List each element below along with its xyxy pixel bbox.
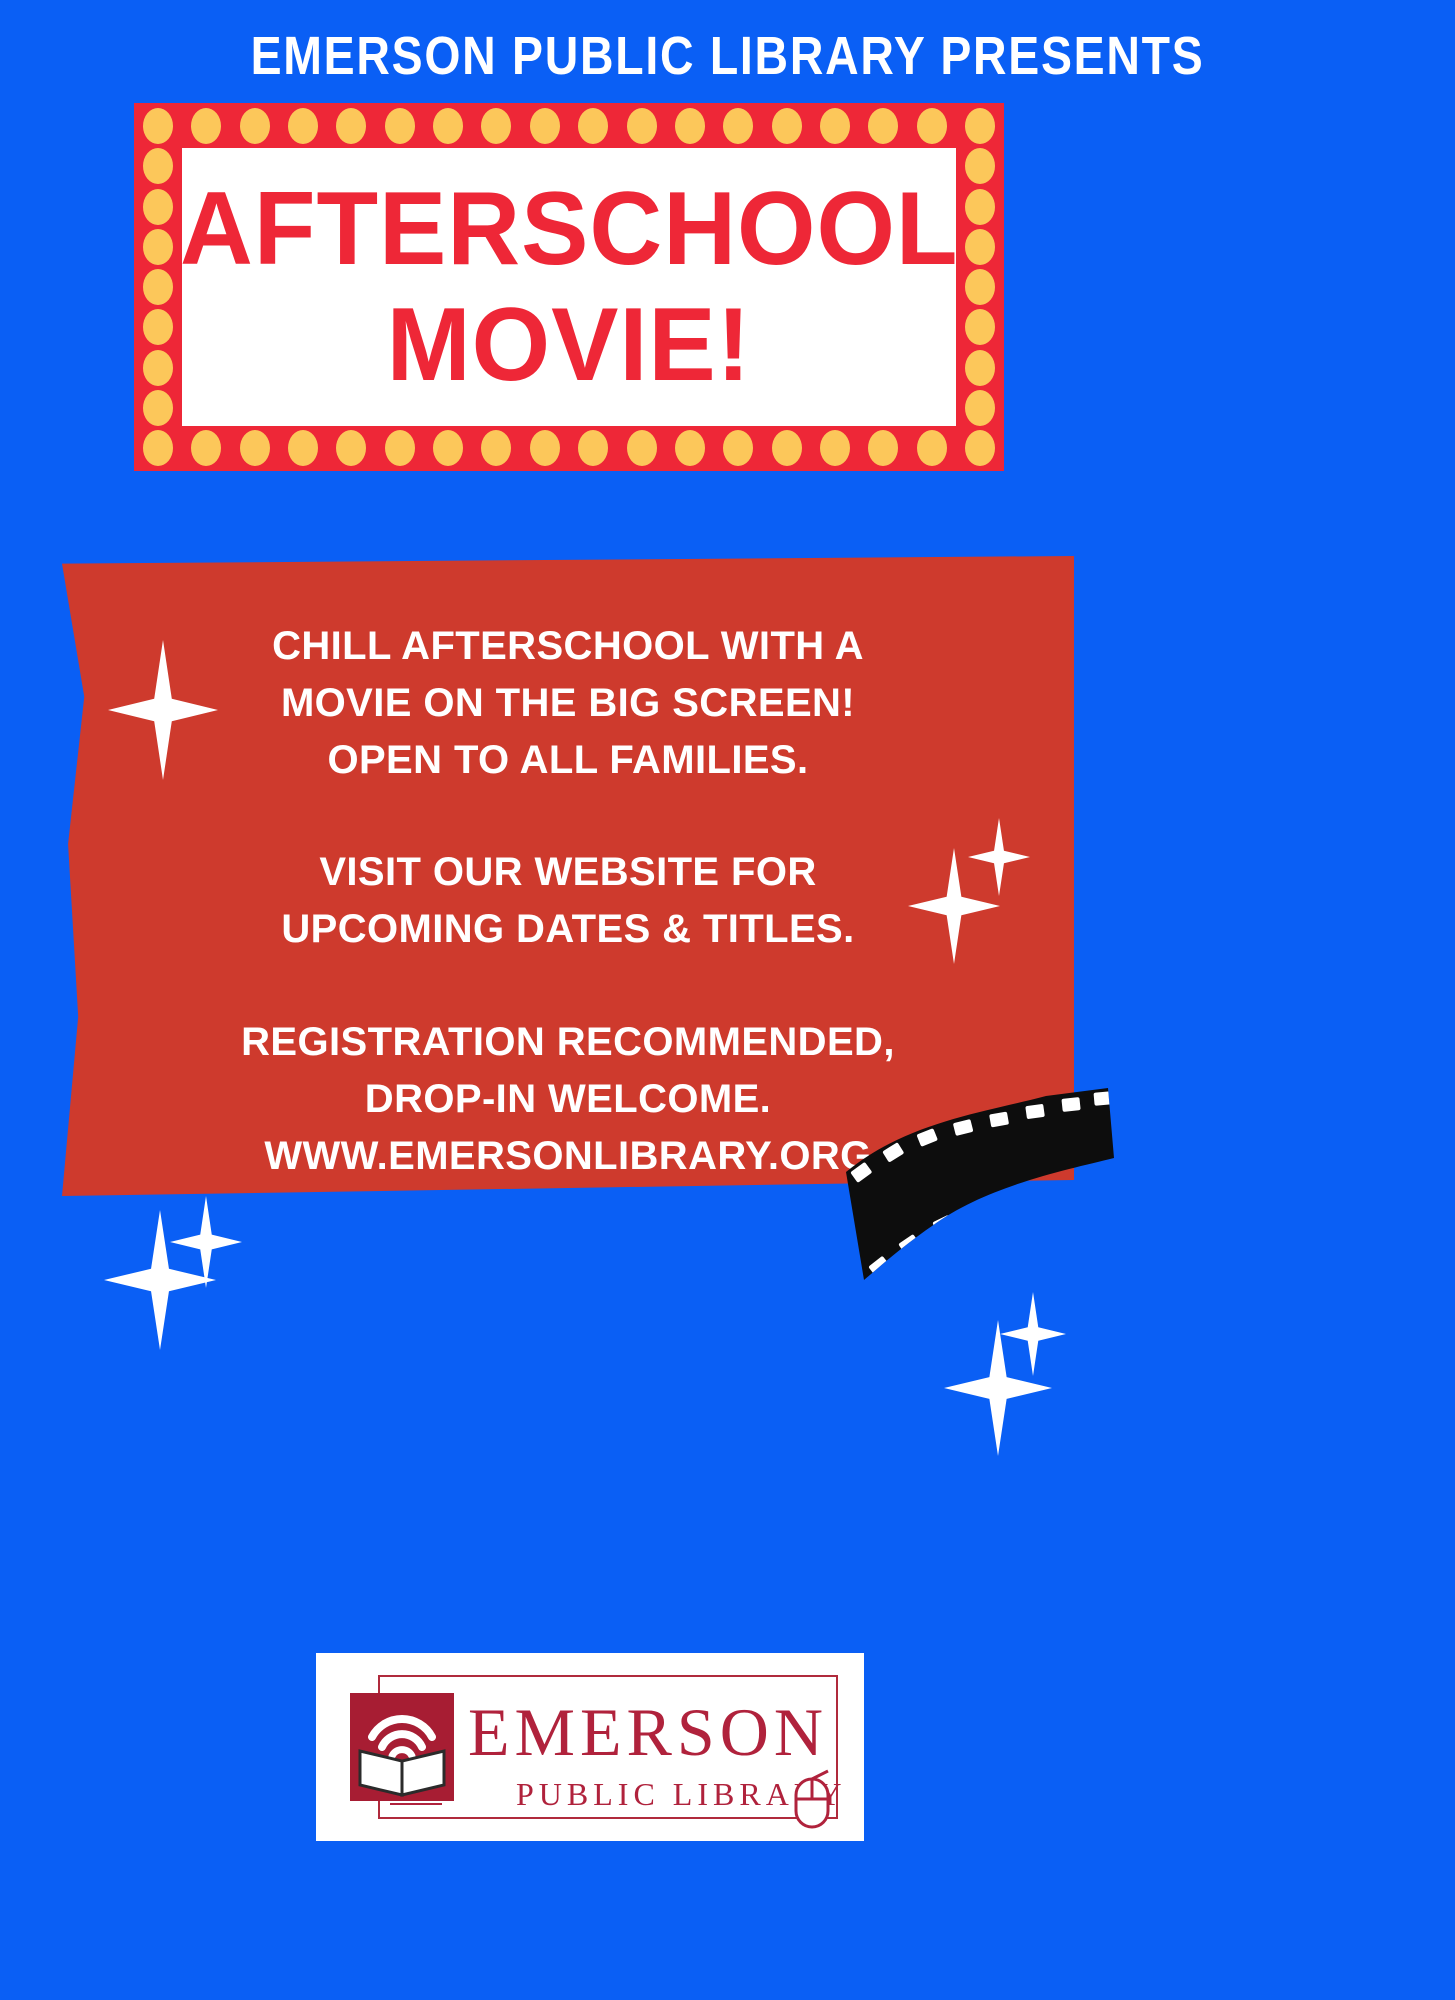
marquee-bulb-right (965, 148, 995, 184)
marquee-bulb-bottom (481, 430, 511, 466)
marquee-bulb-top (385, 108, 415, 144)
marquee-bulb-bottom (675, 430, 705, 466)
marquee-bulb-bottom (627, 430, 657, 466)
marquee-bulb-top (191, 108, 221, 144)
marquee-bulb-top (820, 108, 850, 144)
marquee-bulb-right (965, 269, 995, 305)
marquee-bulb-bottom (143, 430, 173, 466)
marquee-bulb-left (143, 148, 173, 184)
marquee-bulb-top (143, 108, 173, 144)
marquee-bulb-bottom (240, 430, 270, 466)
marquee-bulb-bottom (820, 430, 850, 466)
banner-line: CHILL AFTERSCHOOL WITH A (272, 618, 864, 675)
marquee-bulb-top (868, 108, 898, 144)
website-url[interactable]: WWW.EMERSONLIBRARY.ORG (241, 1128, 895, 1185)
marquee-bulb-top (288, 108, 318, 144)
marquee-bulb-left (143, 390, 173, 426)
sparkle-icon (104, 1210, 216, 1350)
banner-line: DROP-IN WELCOME. (241, 1071, 895, 1128)
marquee-bulb-top (627, 108, 657, 144)
marquee-bulb-top (240, 108, 270, 144)
marquee-bulb-bottom (191, 430, 221, 466)
banner-line: REGISTRATION RECOMMENDED, (241, 1014, 895, 1071)
marquee-bulb-bottom (917, 430, 947, 466)
poster-canvas: EMERSON PUBLIC LIBRARY PRESENTS AFTERSCH… (0, 0, 1455, 2000)
marquee-bulb-left (143, 309, 173, 345)
marquee-sign: AFTERSCHOOL MOVIE! (134, 103, 1004, 471)
logo-name: EMERSON (468, 1698, 848, 1766)
marquee-bulb-top (433, 108, 463, 144)
banner-line: OPEN TO ALL FAMILIES. (272, 732, 864, 789)
marquee-bulb-right (965, 390, 995, 426)
banner-paragraph-1: CHILL AFTERSCHOOL WITH A MOVIE ON THE BI… (272, 618, 864, 788)
sparkle-icon (1000, 1292, 1066, 1376)
marquee-bulb-top (530, 108, 560, 144)
marquee-bulb-bottom (288, 430, 318, 466)
marquee-bulb-bottom (868, 430, 898, 466)
marquee-bulb-right (965, 229, 995, 265)
banner-line: UPCOMING DATES & TITLES. (281, 901, 854, 958)
page-title: EMERSON PUBLIC LIBRARY PRESENTS (102, 28, 1353, 85)
marquee-bulb-left (143, 229, 173, 265)
marquee-bulb-top (578, 108, 608, 144)
marquee-bulb-right (965, 309, 995, 345)
marquee-bulb-bottom (578, 430, 608, 466)
marquee-bulb-bottom (530, 430, 560, 466)
marquee-title-line-2: MOVIE! (387, 287, 752, 403)
computer-mouse-icon (786, 1769, 838, 1831)
marquee-bulb-top (772, 108, 802, 144)
banner-line: VISIT OUR WEBSITE FOR (281, 844, 854, 901)
marquee-bulb-left (143, 189, 173, 225)
filmstrip-icon (836, 1084, 1116, 1284)
marquee-bulb-right (965, 350, 995, 386)
marquee-title-line-1: AFTERSCHOOL (180, 171, 958, 287)
marquee-bulb-right (965, 189, 995, 225)
marquee-bulb-bottom (723, 430, 753, 466)
library-logo: EMERSON PUBLIC LIBRARY (316, 1653, 864, 1841)
banner-paragraph-3: REGISTRATION RECOMMENDED, DROP-IN WELCOM… (241, 1014, 895, 1184)
logo-divider (390, 1803, 442, 1805)
marquee-bulb-bottom (772, 430, 802, 466)
marquee-bulb-top (965, 108, 995, 144)
marquee-panel: AFTERSCHOOL MOVIE! (182, 148, 956, 426)
marquee-bulb-bottom (336, 430, 366, 466)
book-wifi-icon (350, 1693, 454, 1801)
marquee-bulb-top (336, 108, 366, 144)
marquee-bulb-bottom (385, 430, 415, 466)
marquee-bulb-bottom (433, 430, 463, 466)
marquee-bulb-left (143, 350, 173, 386)
marquee-bulb-top (481, 108, 511, 144)
marquee-bulb-top (675, 108, 705, 144)
marquee-bulb-top (917, 108, 947, 144)
banner-line: MOVIE ON THE BIG SCREEN! (272, 675, 864, 732)
banner-paragraph-2: VISIT OUR WEBSITE FOR UPCOMING DATES & T… (281, 844, 854, 958)
marquee-bulb-bottom (965, 430, 995, 466)
marquee-bulb-top (723, 108, 753, 144)
marquee-bulb-left (143, 269, 173, 305)
